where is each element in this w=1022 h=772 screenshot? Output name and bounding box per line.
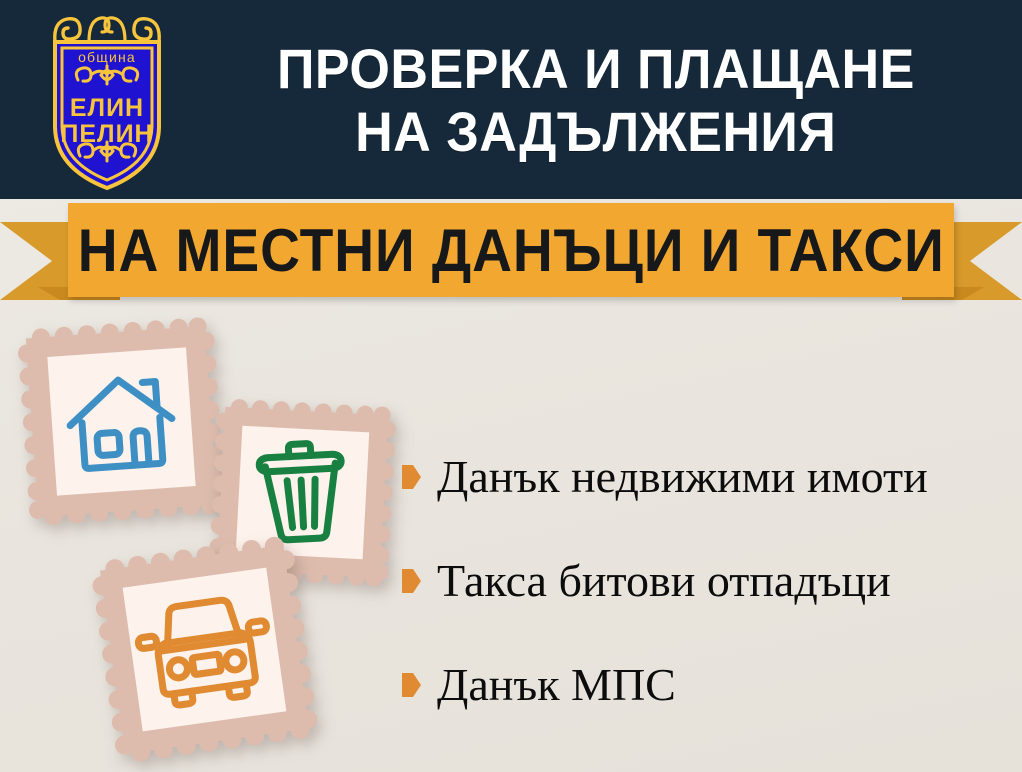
list-item[interactable]: Такса битови отпадъци (402, 529, 1017, 633)
list-item[interactable]: Данък МПС (402, 633, 1017, 737)
ribbon-label: НА МЕСТНИ ДАНЪЦИ И ТАКСИ (77, 216, 944, 285)
poster-canvas: община ЕЛИН ПЕЛИН ПРОВЕРКА И ПЛАЩАНЕ НА … (0, 0, 1022, 772)
stamp-card-car (92, 537, 317, 762)
header-banner: община ЕЛИН ПЕЛИН ПРОВЕРКА И ПЛАЩАНЕ НА … (0, 0, 1022, 199)
arrow-bullet-icon (402, 673, 421, 697)
subtitle-ribbon: НА МЕСТНИ ДАНЪЦИ И ТАКСИ (0, 199, 1022, 309)
list-item-label: Данък недвижими имоти (437, 454, 928, 500)
list-item-label: Данък МПС (437, 662, 676, 708)
list-item-label: Такса битови отпадъци (437, 558, 891, 604)
arrow-bullet-icon (402, 465, 421, 489)
svg-text:община: община (78, 49, 136, 65)
ribbon-band: НА МЕСТНИ ДАНЪЦИ И ТАКСИ (68, 203, 954, 297)
title-line-1: ПРОВЕРКА И ПЛАЩАНЕ (277, 38, 915, 101)
list-item[interactable]: Данък недвижими имоти (402, 425, 1017, 529)
page-title: ПРОВЕРКА И ПЛАЩАНЕ НА ЗАДЪЛЖЕНИЯ (186, 18, 1006, 183)
municipality-logo: община ЕЛИН ПЕЛИН (33, 8, 181, 192)
svg-text:ПЕЛИН: ПЕЛИН (60, 120, 153, 148)
tax-types-list: Данък недвижими имоти Такса битови отпад… (402, 425, 1017, 737)
stamp-card-house (14, 314, 229, 529)
title-line-2: НА ЗАДЪЛЖЕНИЯ (355, 101, 836, 164)
arrow-bullet-icon (402, 569, 421, 593)
svg-text:ЕЛИН: ЕЛИН (70, 94, 144, 122)
